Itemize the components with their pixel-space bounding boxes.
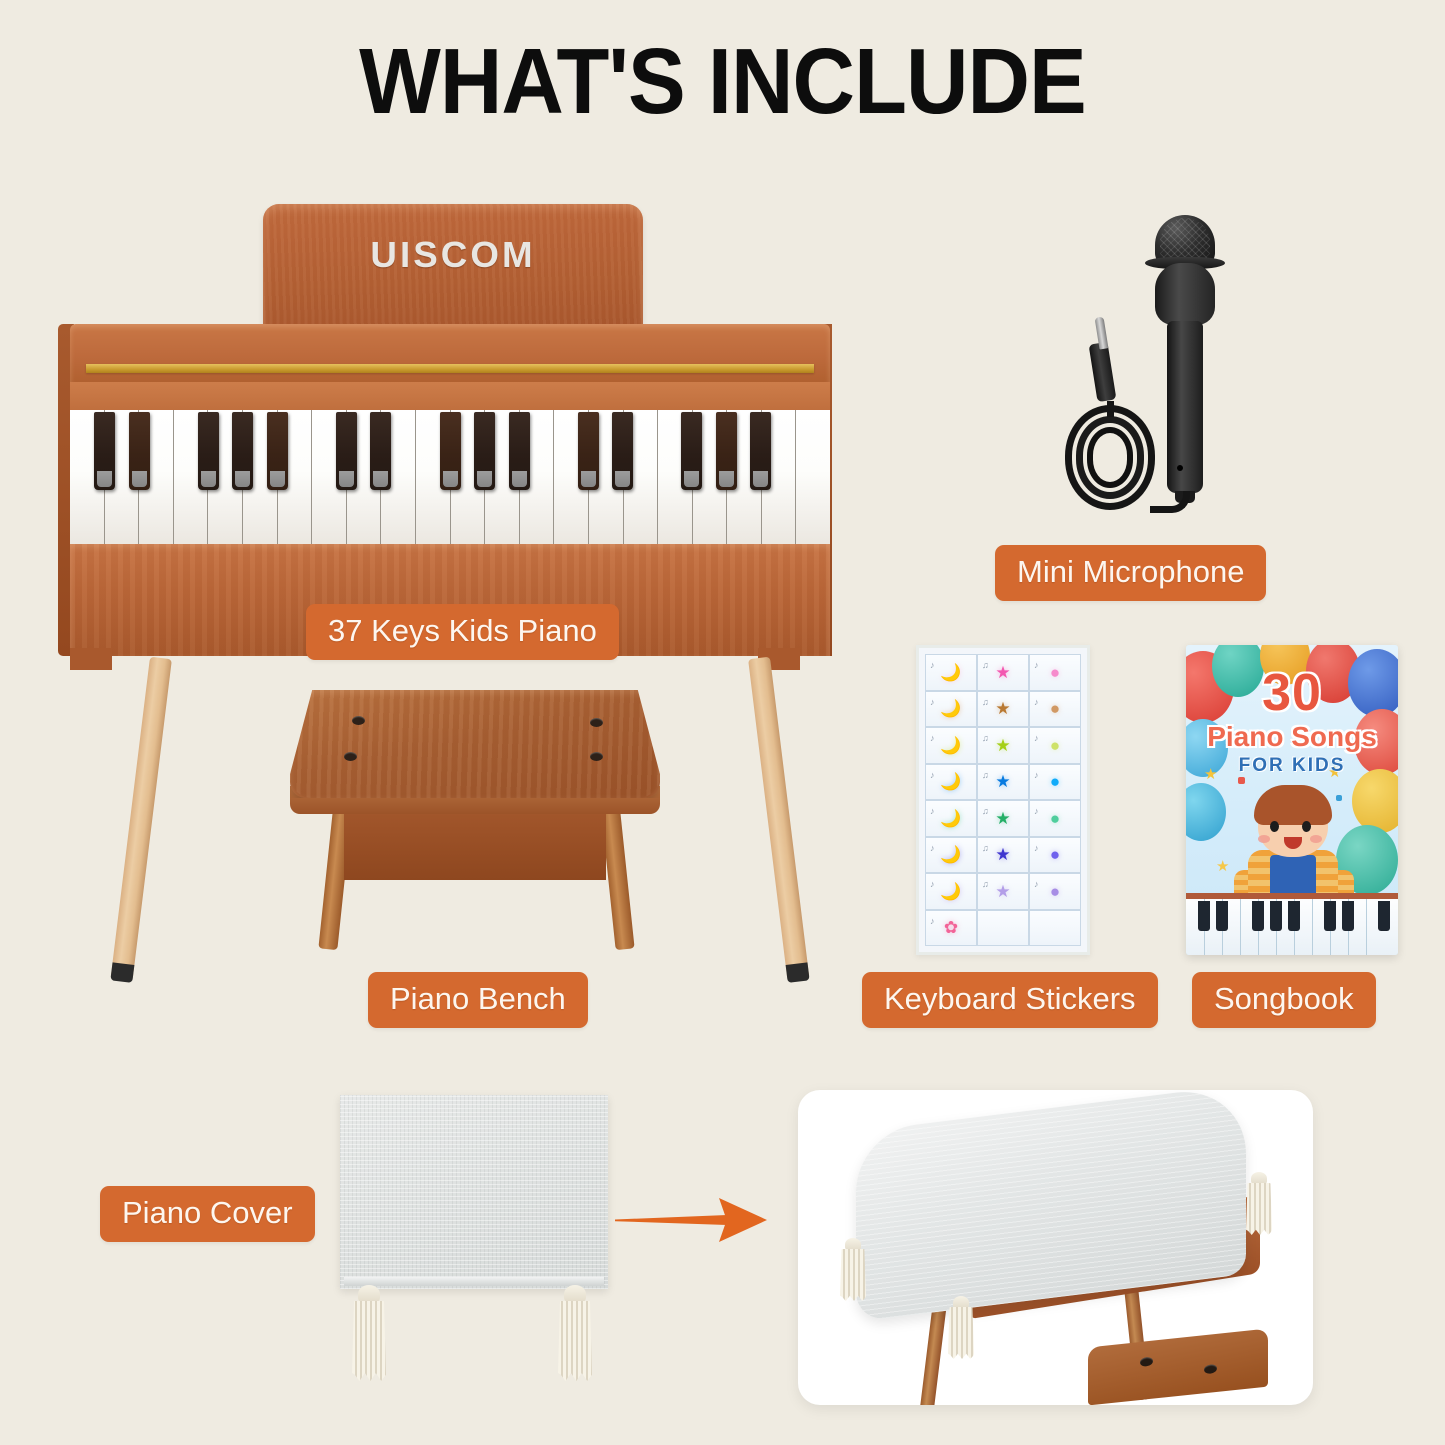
- sticker-glyph: ★: [995, 846, 1010, 863]
- badge-piano[interactable]: 37 Keys Kids Piano: [306, 604, 619, 660]
- piano-white-key[interactable]: [624, 410, 659, 546]
- microphone-cable-loop-inner: [1087, 427, 1133, 488]
- sticker-cell: ♫★: [977, 800, 1029, 837]
- piano-white-key[interactable]: [416, 410, 451, 546]
- piano-white-key[interactable]: [312, 410, 347, 546]
- sticker-glyph: ★: [995, 700, 1010, 717]
- star-decoration: ★: [1216, 857, 1229, 875]
- piano-white-key[interactable]: [243, 410, 278, 546]
- sticker-cell: ♪🌙: [925, 873, 977, 910]
- piano-white-key[interactable]: [693, 410, 728, 546]
- bench-screw: [352, 716, 365, 725]
- sticker-glyph: ★: [995, 883, 1010, 900]
- sticker-glyph: 🌙: [940, 664, 961, 681]
- piano-white-key[interactable]: [485, 410, 520, 546]
- badge-stickers[interactable]: Keyboard Stickers: [862, 972, 1158, 1028]
- sticker-glyph: 🌙: [940, 846, 961, 863]
- confetti: [1238, 777, 1245, 784]
- piano-brand-logo: UISCOM: [263, 234, 643, 276]
- cover-tassel: [352, 1285, 386, 1381]
- sticker-glyph: ●: [1050, 883, 1060, 900]
- sticker-note-icon: ♪: [930, 843, 935, 853]
- badge-microphone[interactable]: Mini Microphone: [995, 545, 1266, 601]
- sticker-glyph: ●: [1050, 810, 1060, 827]
- inset-tassel: [1246, 1172, 1272, 1235]
- sticker-cell: ♪🌙: [925, 764, 977, 801]
- sticker-note-icon: ♪: [1034, 660, 1039, 670]
- sticker-cell: ♪🌙: [925, 691, 977, 728]
- sticker-cell: ♪🌙: [925, 800, 977, 837]
- sticker-note-icon: ♪: [930, 660, 935, 670]
- sticker-cell: ♫★: [977, 654, 1029, 691]
- sticker-cell: ♪●: [1029, 837, 1081, 874]
- sticker-glyph: 🌙: [940, 773, 961, 790]
- sticker-cell: ♪●: [1029, 727, 1081, 764]
- piano-white-key[interactable]: [589, 410, 624, 546]
- sticker-note-icon: ♫: [982, 879, 989, 889]
- infographic-canvas: WHAT'S INCLUDE UISCOM 37 Keys Kids Piano: [0, 0, 1445, 1445]
- cover-tassel: [558, 1285, 592, 1381]
- piano-white-key[interactable]: [381, 410, 416, 546]
- piano-leg-right: [748, 657, 809, 981]
- piano-white-key[interactable]: [762, 410, 797, 546]
- sticker-note-icon: ♫: [982, 697, 989, 707]
- piano-white-key[interactable]: [520, 410, 555, 546]
- inset-bench: [1088, 1329, 1268, 1405]
- inset-draped-cover: [856, 1090, 1246, 1322]
- microphone-body: [1155, 263, 1215, 325]
- microphone-cable-tail: [1150, 491, 1190, 513]
- sticker-cell: [977, 910, 1029, 947]
- piano-white-key[interactable]: [347, 410, 382, 546]
- sticker-cell: ♫★: [977, 691, 1029, 728]
- sticker-note-icon: ♪: [1034, 843, 1039, 853]
- piano-white-key[interactable]: [139, 410, 174, 546]
- badge-songbook[interactable]: Songbook: [1192, 972, 1376, 1028]
- sticker-note-icon: ♪: [930, 916, 935, 926]
- sticker-glyph: ●: [1050, 846, 1060, 863]
- piano-white-key[interactable]: [554, 410, 589, 546]
- bench-seat: [290, 690, 660, 798]
- kid-eye-right: [1302, 821, 1311, 832]
- sticker-cell: ♪●: [1029, 764, 1081, 801]
- piano-white-key[interactable]: [105, 410, 140, 546]
- microphone-cable-lead: [1107, 401, 1114, 417]
- piano-keybed: [70, 410, 830, 546]
- sticker-note-icon: ♪: [1034, 697, 1039, 707]
- sticker-cell: [1029, 910, 1081, 947]
- sticker-note-icon: ♪: [1034, 879, 1039, 889]
- sticker-note-icon: ♫: [982, 733, 989, 743]
- sticker-note-icon: ♫: [982, 660, 989, 670]
- piano-gold-trim: [86, 364, 814, 373]
- sticker-cell: ♪●: [1029, 654, 1081, 691]
- songbook-subtitle: FOR KIDS: [1186, 755, 1398, 777]
- arrow-right-icon: [615, 1195, 770, 1241]
- confetti: [1336, 795, 1342, 801]
- bench-screw: [590, 718, 603, 727]
- piano-white-key[interactable]: [70, 410, 105, 546]
- sticker-note-icon: ♪: [1034, 733, 1039, 743]
- piano-bench-illustration: [290, 690, 660, 955]
- sticker-cell: ♪●: [1029, 800, 1081, 837]
- sticker-note-icon: ♪: [930, 733, 935, 743]
- piano-white-key[interactable]: [278, 410, 313, 546]
- sticker-glyph: ★: [995, 773, 1010, 790]
- cover-fabric: [340, 1095, 608, 1289]
- sticker-glyph: ★: [995, 737, 1010, 754]
- sticker-glyph: ★: [995, 664, 1010, 681]
- sticker-glyph: 🌙: [940, 883, 961, 900]
- sticker-note-icon: ♪: [1034, 770, 1039, 780]
- sticker-cell: ♪🌙: [925, 727, 977, 764]
- sticker-note-icon: ♫: [982, 806, 989, 816]
- microphone-plug-body: [1089, 342, 1117, 402]
- songbook-title: Piano Songs: [1186, 721, 1398, 753]
- inset-tassel: [840, 1238, 866, 1301]
- sticker-glyph: ●: [1050, 773, 1060, 790]
- sticker-glyph: ●: [1050, 700, 1060, 717]
- badge-bench[interactable]: Piano Bench: [368, 972, 588, 1028]
- piano-white-key[interactable]: [174, 410, 209, 546]
- bench-screw: [590, 752, 603, 761]
- sticker-note-icon: ♪: [930, 697, 935, 707]
- sticker-note-icon: ♪: [930, 806, 935, 816]
- sticker-note-icon: ♪: [930, 770, 935, 780]
- keyboard-stickers-sheet: ♪🌙♫★♪●♪🌙♫★♪●♪🌙♫★♪●♪🌙♫★♪●♪🌙♫★♪●♪🌙♫★♪●♪🌙♫★…: [916, 645, 1090, 955]
- kid-cheek-right: [1310, 835, 1322, 843]
- sticker-note-icon: ♫: [982, 770, 989, 780]
- kid-cheek-left: [1258, 835, 1270, 843]
- sticker-note-icon: ♪: [930, 879, 935, 889]
- piano-white-keys: [70, 410, 830, 546]
- sticker-cell: ♪●: [1029, 691, 1081, 728]
- piano-cover-illustration: [340, 1095, 640, 1425]
- piano-white-key[interactable]: [208, 410, 243, 546]
- piano-music-stand: UISCOM: [263, 204, 643, 332]
- songbook-cover: ★ ★ ★ 30 Piano Songs FOR KIDS: [1186, 645, 1398, 955]
- bench-screw: [344, 752, 357, 761]
- microphone-illustration: [1055, 205, 1295, 535]
- piano-white-key[interactable]: [727, 410, 762, 546]
- sticker-note-icon: ♫: [982, 843, 989, 853]
- sticker-glyph: ★: [995, 810, 1010, 827]
- piano-white-key[interactable]: [658, 410, 693, 546]
- kid-eye-left: [1270, 821, 1279, 832]
- bench-apron: [344, 808, 606, 880]
- piano-foot-left: [70, 648, 112, 670]
- sticker-cell: ♫★: [977, 837, 1029, 874]
- sticker-cell: ♫★: [977, 873, 1029, 910]
- sticker-glyph: ●: [1050, 664, 1060, 681]
- inset-tassel: [948, 1296, 974, 1359]
- songbook-piano-graphic: [1186, 893, 1398, 955]
- page-title: WHAT'S INCLUDE: [51, 28, 1395, 135]
- sticker-cell: ♪🌙: [925, 837, 977, 874]
- cover-in-use-photo: [798, 1090, 1313, 1405]
- sticker-cell: ♫★: [977, 727, 1029, 764]
- kid-hair: [1254, 785, 1332, 825]
- badge-cover[interactable]: Piano Cover: [100, 1186, 315, 1242]
- sticker-cell: ♫★: [977, 764, 1029, 801]
- piano-white-key[interactable]: [451, 410, 486, 546]
- sticker-glyph: ●: [1050, 737, 1060, 754]
- kid-overalls: [1270, 855, 1316, 897]
- sticker-glyph: 🌙: [940, 810, 961, 827]
- sticker-glyph: ✿: [944, 919, 958, 936]
- piano-top-panel: [70, 324, 830, 384]
- microphone-handle: [1167, 321, 1203, 493]
- sticker-glyph: 🌙: [940, 700, 961, 717]
- sticker-glyph: 🌙: [940, 737, 961, 754]
- sticker-cell: ♪●: [1029, 873, 1081, 910]
- songbook-number: 30: [1186, 663, 1398, 723]
- sticker-note-icon: ♪: [1034, 806, 1039, 816]
- piano-white-key[interactable]: [796, 410, 830, 546]
- sticker-cell: ♪🌙: [925, 654, 977, 691]
- piano-leg-left: [111, 657, 172, 981]
- sticker-cell: ♪✿: [925, 910, 977, 947]
